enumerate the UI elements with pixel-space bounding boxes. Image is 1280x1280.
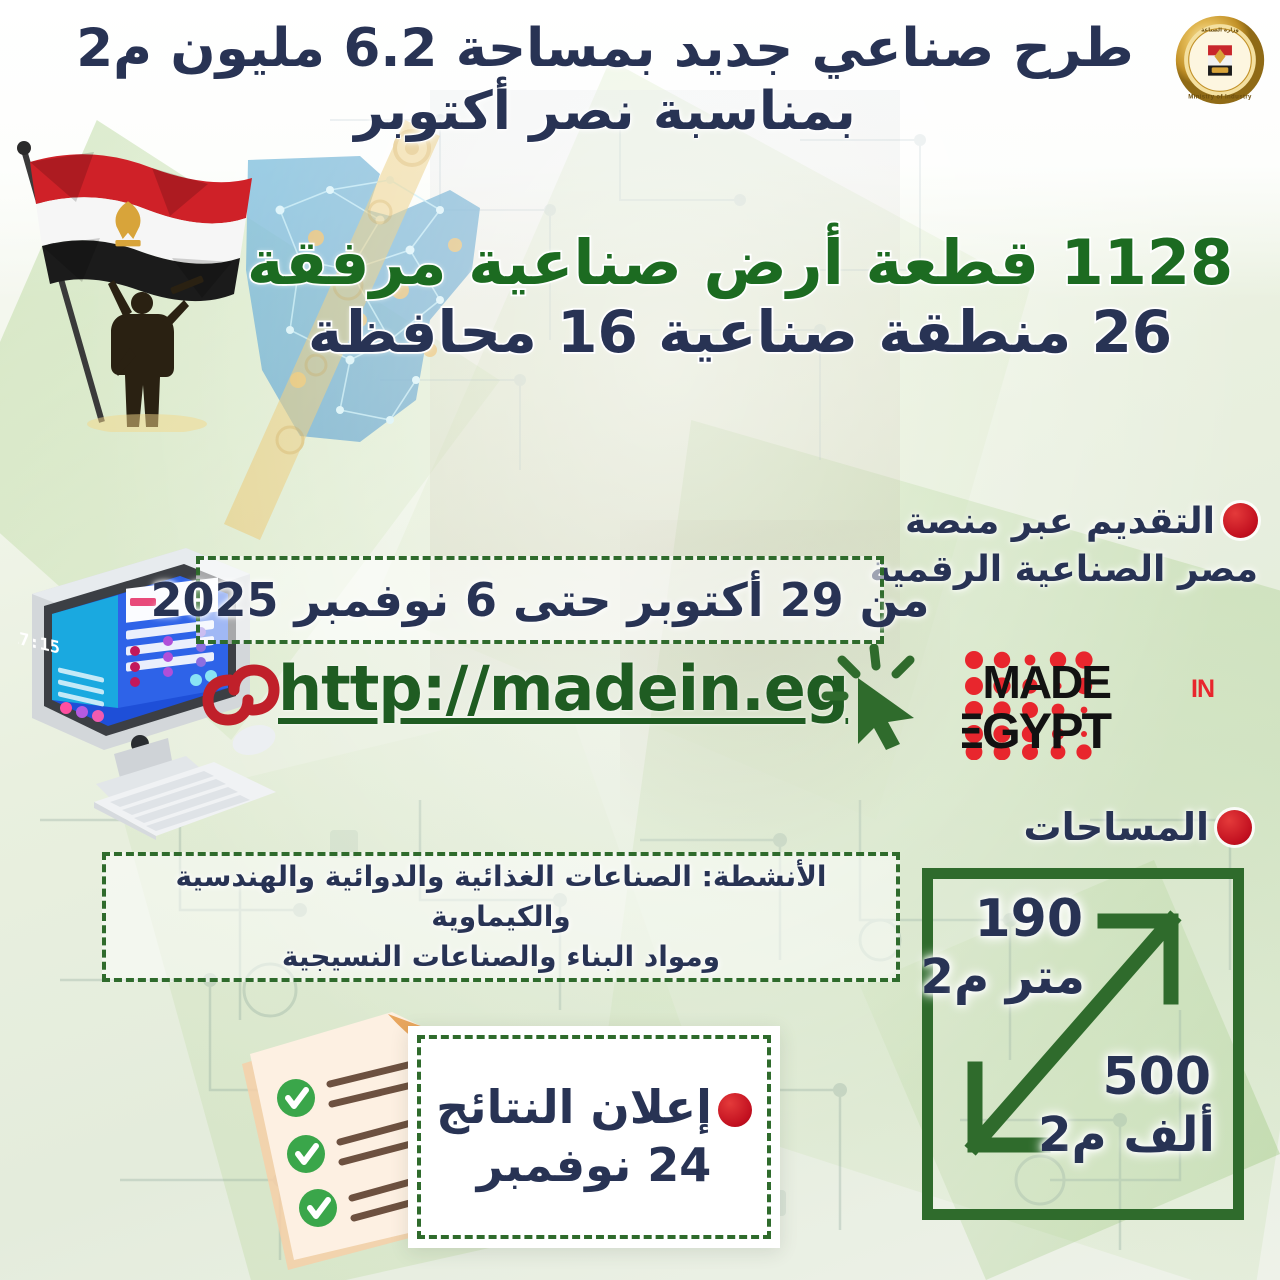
in-text: IN	[1191, 675, 1214, 703]
activities-box: الأنشطة: الصناعات الغذائية والدوائية وال…	[102, 852, 900, 982]
areas-header-line: المساحات	[912, 802, 1252, 852]
area-max-unit: ألف م2	[1038, 1107, 1215, 1163]
platform-line-2: مصر الصناعية الرقمية	[898, 546, 1258, 594]
svg-text:وزارة الصناعة: وزارة الصناعة	[1201, 27, 1239, 33]
results-card-inner: إعلان النتائج 24 نوفمبر	[417, 1035, 771, 1239]
made-text: MADE	[983, 656, 1111, 708]
application-dates-text: من 29 أكتوبر حتى 6 نوفمبر 2025	[151, 573, 930, 627]
results-announcement-card: إعلان النتائج 24 نوفمبر	[408, 1026, 780, 1248]
svg-text:Ministry of Industry: Ministry of Industry	[1188, 95, 1252, 101]
zones-headline: 26 منطقة صناعية 16 محافظة	[230, 299, 1250, 366]
egypt-flag-soldier-illustration	[2, 132, 292, 432]
platform-line-1: التقديم عبر منصة	[898, 498, 1258, 546]
activities-line-1: الأنشطة: الصناعات الغذائية والدوائية وال…	[106, 857, 896, 937]
egypt-text: EGYPT	[962, 703, 1111, 759]
application-dates-box: من 29 أكتوبر حتى 6 نوفمبر 2025	[196, 556, 884, 644]
activities-line-2: ومواد البناء والصناعات النسيجية	[282, 937, 720, 977]
plots-headline: 1128 قطعة أرض صناعية مرفقة	[230, 228, 1250, 297]
ministry-of-industry-logo: وزارة الصناعة Ministry of Industry	[1174, 14, 1266, 106]
red-bullet-icon	[1223, 503, 1258, 538]
infographic-poster: وزارة الصناعة Ministry of Industry طرح ص…	[0, 0, 1280, 1280]
red-bullet-icon	[718, 1093, 752, 1127]
headline-block: طرح صناعي جديد بمساحة 6.2 مليون م2 بمناس…	[60, 18, 1150, 143]
headline-green-block: 1128 قطعة أرض صناعية مرفقة 26 منطقة صناع…	[230, 228, 1250, 367]
headline-line-1: طرح صناعي جديد بمساحة 6.2 مليون م2	[60, 18, 1150, 81]
areas-box: 190 متر م2 500 ألف م2	[922, 868, 1244, 1220]
application-platform-block: التقديم عبر منصة مصر الصناعية الرقمية	[898, 498, 1258, 593]
website-url-row: http://madein.eg	[200, 648, 900, 740]
red-bullet-icon	[1217, 810, 1252, 845]
results-line-2: 24 نوفمبر	[477, 1137, 712, 1195]
website-url-text[interactable]: http://madein.eg	[278, 652, 848, 725]
areas-header: المساحات	[912, 802, 1252, 852]
results-line-1: إعلان النتائج	[436, 1079, 752, 1137]
area-max-value: 500	[1102, 1047, 1211, 1107]
area-min-value: 190	[974, 889, 1083, 949]
click-cursor-icon	[820, 644, 930, 750]
area-min-unit: متر م2	[921, 949, 1085, 1005]
made-in-egypt-logo: MADE IN EGYPT	[962, 648, 1248, 760]
chain-link-icon	[200, 658, 282, 732]
